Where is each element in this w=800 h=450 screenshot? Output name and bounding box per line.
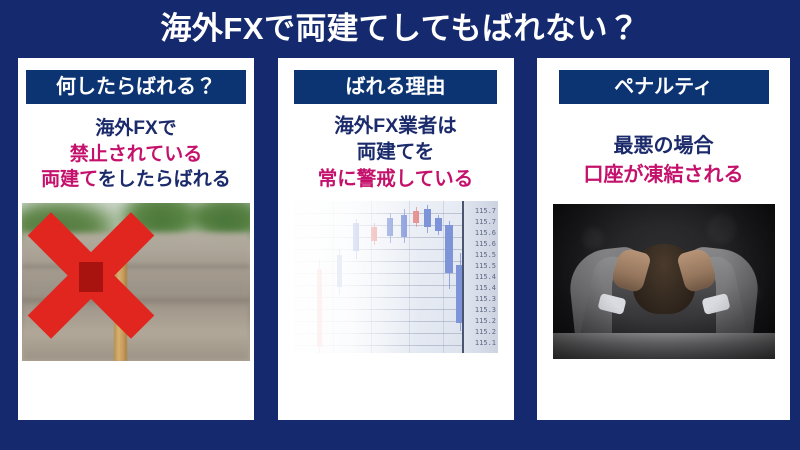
price-label: 115.7 [475, 207, 496, 215]
panel-1-line-1: 海外FXで [22, 116, 250, 142]
panel-1-line-3: 両建てをしたらばれる [22, 167, 250, 193]
price-label: 115.5 [475, 262, 496, 270]
panel-2-header: ばれる理由 [294, 70, 497, 104]
panel-1-line-3-seg-2: をしたらばれる [98, 169, 231, 190]
panel-2-line-3-seg-1: 常に警戒している [318, 168, 473, 190]
distressed-businessman-photo [553, 204, 775, 359]
price-label: 115.1 [475, 339, 496, 347]
panel-what-gets-caught: 何したらばれる？ 海外FXで 禁止されている 両建てをしたらばれる [18, 58, 254, 420]
page-title-text: 海外FXで両建てしてもばれない？ [160, 13, 639, 44]
price-label: 115.2 [475, 328, 496, 336]
price-label: 115.4 [475, 284, 496, 292]
panel-2-line-2-seg-1: 両建てを [357, 141, 435, 163]
panel-2-line-1-seg-1: 海外FX業者は [334, 115, 456, 137]
red-x-sign-photo [22, 203, 250, 361]
panel-1-body: 海外FXで 禁止されている 両建てをしたらばれる [18, 116, 254, 193]
price-label: 115.4 [475, 273, 496, 281]
panel-penalty: ペナルティ 最悪の場合 口座が凍結される [537, 58, 790, 420]
candlestick-chart-photo: 115.7 115.7 115.6 115.6 115.5 115.5 115.… [293, 201, 498, 353]
panel-2-header-text: ばれる理由 [346, 77, 446, 97]
price-label: 115.3 [475, 295, 496, 303]
price-label: 115.6 [475, 240, 496, 248]
panel-2-line-2: 両建てを [282, 139, 510, 165]
panel-2-line-3: 常に警戒している [282, 166, 510, 192]
panel-3-line-1: 最悪の場合 [541, 132, 786, 161]
panel-1-line-2-seg-1: 禁止されている [70, 144, 202, 165]
panel-2-line-1: 海外FX業者は [282, 113, 510, 139]
panel-1-header: 何したらばれる？ [26, 70, 246, 104]
candlestick [445, 221, 453, 289]
price-label: 115.7 [475, 218, 496, 226]
x-center-shadow [79, 262, 103, 292]
price-label: 115.5 [475, 251, 496, 259]
panel-1-line-1-seg-1: 海外FXで [95, 118, 176, 139]
price-label: 115.6 [475, 229, 496, 237]
price-label: 115.3 [475, 306, 496, 314]
photo-vignette [553, 204, 775, 359]
candle-body [435, 218, 442, 231]
panel-3-line-1-seg-1: 最悪の場合 [614, 135, 714, 157]
price-label: 115.2 [475, 317, 496, 325]
page-title: 海外FXで両建てしてもばれない？ [0, 0, 800, 56]
candlestick [424, 205, 431, 233]
panel-1-line-2: 禁止されている [22, 142, 250, 168]
candle-body [424, 209, 431, 227]
panel-reason-detected: ばれる理由 海外FX業者は 両建てを 常に警戒している [278, 58, 514, 420]
panel-3-header: ペナルティ [559, 70, 769, 104]
infographic-root: 海外FXで両建てしてもばれない？ 何したらばれる？ 海外FXで 禁止されている … [0, 0, 800, 450]
candlestick [435, 215, 442, 235]
panel-3-line-2-seg-1: 口座が凍結される [584, 164, 744, 186]
panel-1-header-text: 何したらばれる？ [56, 77, 216, 97]
panel-1-line-3-seg-1: 両建て [41, 169, 98, 190]
chart-gridline-vertical [443, 201, 444, 353]
chart-glare-overlay [293, 201, 420, 353]
panel-3-line-2: 口座が凍結される [541, 161, 786, 190]
panel-row: 何したらばれる？ 海外FXで 禁止されている 両建てをしたらばれる [18, 58, 790, 420]
panel-3-body: 最悪の場合 口座が凍結される [537, 132, 790, 190]
panel-3-header-text: ペナルティ [614, 77, 713, 97]
chart-price-scale: 115.7 115.7 115.6 115.6 115.5 115.5 115.… [464, 201, 498, 353]
red-x-icon [28, 217, 154, 333]
candle-body [445, 225, 453, 273]
panel-2-body: 海外FX業者は 両建てを 常に警戒している [278, 113, 514, 192]
